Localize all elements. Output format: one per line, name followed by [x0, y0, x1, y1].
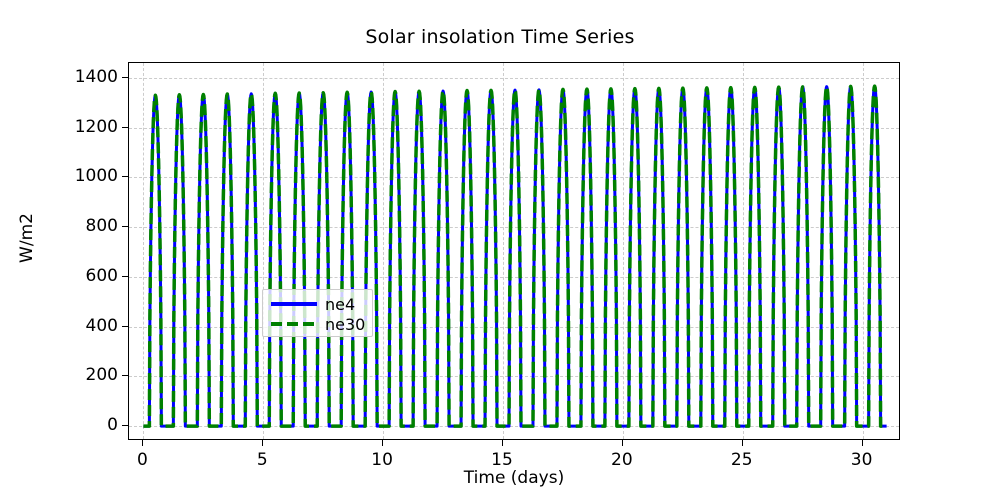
x-tick-mark	[622, 440, 623, 446]
chart-title: Solar insolation Time Series	[0, 26, 1000, 48]
legend-swatch-ne4	[271, 302, 317, 306]
x-tick-label: 30	[822, 450, 902, 470]
legend-label-ne4: ne4	[325, 295, 355, 314]
x-tick-label: 25	[702, 450, 782, 470]
x-tick-mark	[262, 440, 263, 446]
legend-label-ne30: ne30	[325, 315, 365, 334]
x-tick-mark	[142, 440, 143, 446]
legend-item-1[interactable]: ne30	[263, 314, 372, 336]
series-svg	[129, 63, 900, 440]
x-tick-label: 20	[582, 450, 662, 470]
legend-item-0[interactable]: ne4	[263, 294, 372, 316]
series-layer	[129, 63, 899, 439]
x-tick-label: 0	[102, 450, 182, 470]
plot-area: ne4 ne30	[128, 62, 900, 440]
y-axis-tick-marks	[0, 62, 128, 440]
legend-swatch-ne30	[271, 322, 315, 326]
x-tick-label: 5	[222, 450, 302, 470]
legend-box[interactable]: ne4 ne30	[262, 289, 373, 337]
x-tick-label: 10	[342, 450, 422, 470]
x-tick-mark	[382, 440, 383, 446]
x-tick-mark	[502, 440, 503, 446]
x-tick-mark	[862, 440, 863, 446]
x-axis-label: Time (days)	[128, 468, 900, 488]
x-tick-mark	[742, 440, 743, 446]
x-tick-label: 15	[462, 450, 542, 470]
figure-canvas: Solar insolation Time Series W/m2 020040…	[0, 0, 1000, 500]
